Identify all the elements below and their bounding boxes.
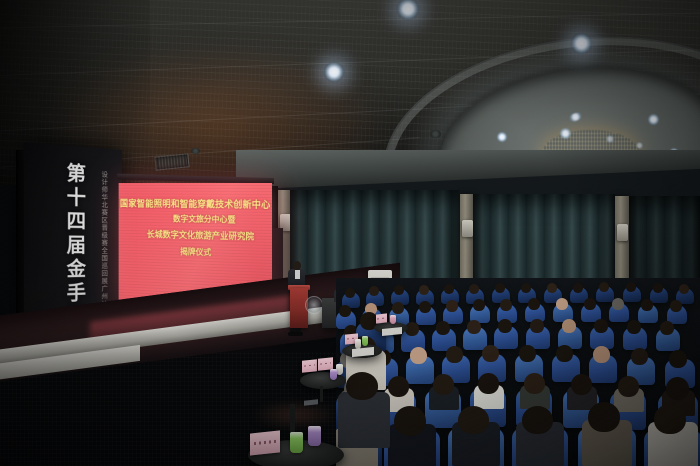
audience-head bbox=[446, 300, 458, 312]
speaker-shoes bbox=[288, 332, 303, 336]
ceiling-downlight bbox=[324, 62, 344, 82]
name-card bbox=[250, 430, 280, 455]
audience-head bbox=[473, 299, 485, 311]
audience-head bbox=[571, 374, 592, 395]
audience-head bbox=[446, 346, 463, 363]
audience-head bbox=[345, 288, 355, 298]
audience-head bbox=[521, 283, 531, 293]
name-card-text bbox=[377, 317, 385, 319]
ceiling-downlight bbox=[648, 114, 659, 125]
audience-head bbox=[419, 285, 429, 295]
audience-head bbox=[498, 319, 512, 333]
audience-head bbox=[522, 406, 553, 434]
audience-area bbox=[336, 278, 700, 466]
paper-cup bbox=[330, 369, 337, 380]
audience-head bbox=[388, 376, 409, 397]
audience-head bbox=[467, 320, 481, 334]
speaker-head bbox=[293, 261, 301, 270]
audience-head bbox=[469, 284, 479, 294]
wall-speaker bbox=[617, 224, 628, 241]
audience-head bbox=[627, 320, 641, 334]
audience-head bbox=[419, 301, 431, 313]
screen-title-line-2: 数字文旅分中心暨 bbox=[119, 215, 272, 227]
audience-head bbox=[346, 372, 378, 400]
speaker-shirt bbox=[295, 270, 300, 279]
audience-head bbox=[588, 402, 620, 432]
audience-head bbox=[478, 373, 499, 394]
audience-head bbox=[618, 376, 639, 397]
audience-head bbox=[599, 282, 609, 292]
audience-head bbox=[660, 321, 674, 335]
audience-head bbox=[556, 345, 573, 362]
paper-cup bbox=[290, 432, 303, 453]
audience-head bbox=[519, 345, 536, 362]
audience-head bbox=[394, 406, 426, 436]
audience-head bbox=[458, 406, 489, 434]
name-card-text bbox=[254, 440, 277, 445]
audience-head bbox=[669, 350, 687, 368]
audience-head bbox=[547, 283, 557, 293]
audience-head bbox=[653, 283, 663, 293]
screen-title-line-4: 揭牌仪式 bbox=[119, 247, 272, 261]
audience-head bbox=[436, 321, 450, 335]
floor-light-reflection bbox=[250, 400, 340, 430]
ceiling-downlight bbox=[497, 132, 507, 142]
audience-head bbox=[584, 298, 596, 310]
audience-head bbox=[594, 319, 608, 333]
audience-head bbox=[530, 319, 544, 333]
name-card bbox=[376, 313, 387, 323]
audience-head bbox=[410, 347, 427, 364]
audience-head bbox=[562, 319, 576, 333]
audience-head bbox=[593, 346, 610, 363]
audience-head bbox=[654, 404, 686, 434]
audience-head bbox=[612, 298, 624, 310]
audience-head bbox=[444, 284, 454, 294]
ceiling-downlight bbox=[571, 33, 592, 54]
audience-head bbox=[679, 284, 689, 294]
name-card-text bbox=[320, 362, 331, 365]
audience-head bbox=[524, 373, 545, 394]
podium-emblem bbox=[305, 296, 323, 314]
audience-head bbox=[631, 348, 648, 365]
audience-head bbox=[482, 345, 499, 362]
audience-head bbox=[339, 305, 351, 317]
audience-head bbox=[369, 286, 379, 296]
ceiling-downlight bbox=[636, 142, 643, 149]
audience-head bbox=[626, 282, 636, 292]
audience-head bbox=[528, 298, 540, 310]
audience-torso bbox=[338, 392, 390, 448]
name-card bbox=[302, 359, 317, 373]
paper-cup bbox=[362, 336, 368, 346]
audience-head bbox=[500, 299, 512, 311]
paper-cup bbox=[336, 364, 343, 375]
wall-speaker bbox=[462, 220, 473, 237]
paper-cup bbox=[390, 315, 396, 324]
table-stem bbox=[320, 386, 323, 402]
audience-head bbox=[495, 283, 505, 293]
audience-head bbox=[641, 299, 653, 311]
audience-head bbox=[556, 298, 568, 310]
ceiling-downlight-off bbox=[430, 130, 441, 138]
audience-head bbox=[670, 300, 682, 312]
audience-head bbox=[392, 302, 404, 314]
name-card-text bbox=[304, 364, 315, 367]
screen-title-line-3: 长城数字文化旅游产业研究院 bbox=[119, 230, 272, 243]
ceiling-downlight bbox=[560, 128, 571, 139]
paper-cup bbox=[308, 426, 321, 446]
ceiling-downlight-off bbox=[191, 148, 200, 154]
ceiling-downlight bbox=[606, 135, 614, 143]
audience-head bbox=[394, 285, 404, 295]
audience-head bbox=[433, 374, 454, 395]
audience-head bbox=[666, 377, 689, 400]
audience-head bbox=[573, 283, 583, 293]
screen-title-line-1: 国家智能照明和智能穿戴技术创新中心 bbox=[119, 200, 272, 212]
conference-hall-photo: 第十四届金手指奖 设计师华北赛区晋级赛全国巡回展广州沙龙太原站 第十四届金手指奖… bbox=[0, 0, 700, 466]
wall-soffit bbox=[236, 150, 700, 190]
